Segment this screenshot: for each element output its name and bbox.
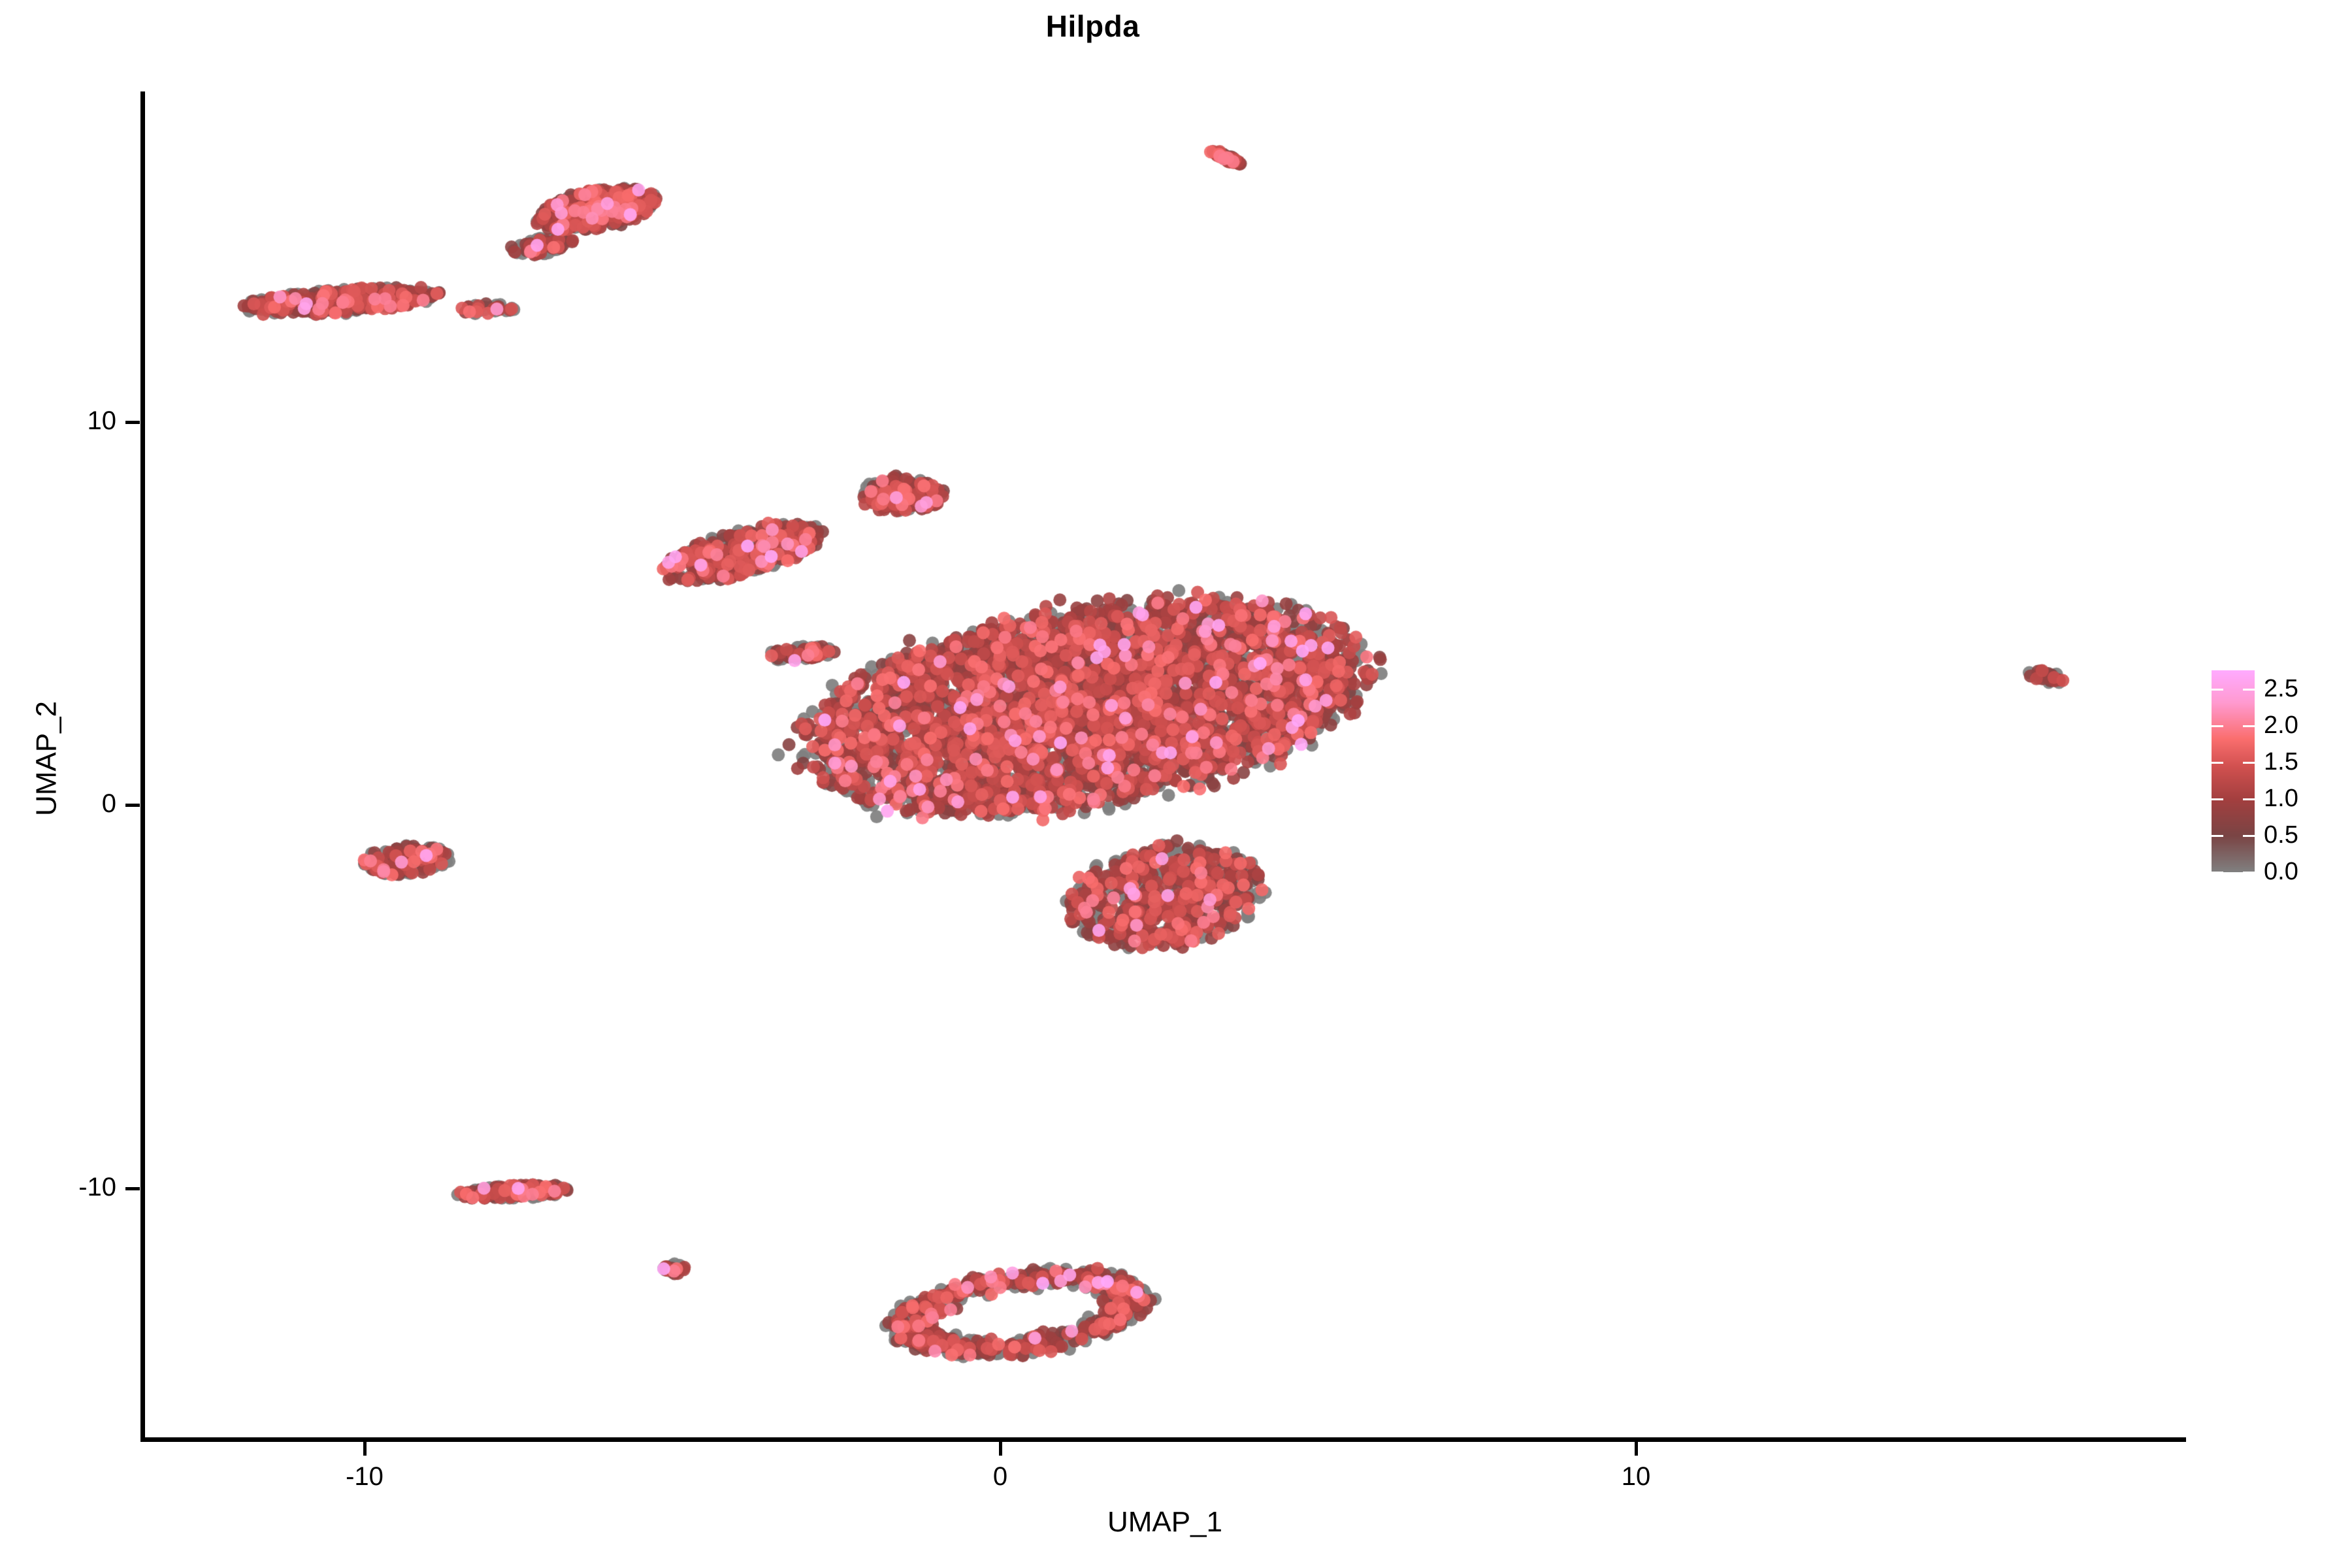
colorbar-tick-label: 1.5 [2264, 749, 2298, 774]
page-title: Hilpda [0, 7, 2185, 46]
colorbar-tick-mark [2212, 725, 2223, 727]
colorbar-tick-mark [2212, 798, 2223, 800]
colorbar-tick-label: 0.5 [2264, 823, 2298, 847]
colorbar-tick-label: 2.5 [2264, 676, 2298, 701]
y-axis-label-wrapper: UMAP_2 [27, 85, 67, 1433]
legend-colorbar[interactable]: 0.00.51.01.52.02.5 [2212, 670, 2349, 874]
x-axis-line [140, 1437, 2186, 1442]
colorbar-tick-label: 0.0 [2264, 859, 2298, 884]
x-tick-label: -10 [299, 1462, 430, 1492]
x-tick-mark [1635, 1441, 1638, 1456]
colorbar-tick-mark [2243, 835, 2255, 837]
colorbar-tick-mark [2212, 762, 2223, 764]
colorbar-tick-mark [2212, 872, 2223, 874]
x-tick-label: 10 [1571, 1462, 1701, 1492]
colorbar-tick-label: 2.0 [2264, 713, 2298, 738]
colorbar-tick-mark [2243, 762, 2255, 764]
colorbar-tick-mark [2243, 725, 2255, 727]
scatter-plot-panel[interactable] [144, 91, 2185, 1439]
x-tick-mark [363, 1441, 367, 1456]
colorbar-gradient [2212, 670, 2255, 872]
colorbar-tick-mark [2212, 689, 2223, 691]
colorbar-tick-mark [2243, 689, 2255, 691]
scatter-canvas[interactable] [144, 91, 2185, 1439]
umap-feature-plot: Hilpda -10010 100-10 UMAP_1 UMAP_2 0.00.… [0, 0, 2352, 1568]
x-tick-mark [999, 1441, 1002, 1456]
y-axis-label: UMAP_2 [31, 701, 63, 816]
y-tick-mark [125, 804, 140, 807]
y-tick-mark [125, 1187, 140, 1190]
colorbar-tick-mark [2243, 798, 2255, 800]
colorbar-tick-label: 1.0 [2264, 786, 2298, 811]
x-tick-label: 0 [935, 1462, 1066, 1492]
colorbar-tick-mark [2212, 835, 2223, 837]
y-axis-line [140, 91, 145, 1441]
x-axis-label: UMAP_1 [144, 1506, 2185, 1539]
colorbar-tick-mark [2243, 872, 2255, 874]
y-tick-mark [125, 421, 140, 424]
